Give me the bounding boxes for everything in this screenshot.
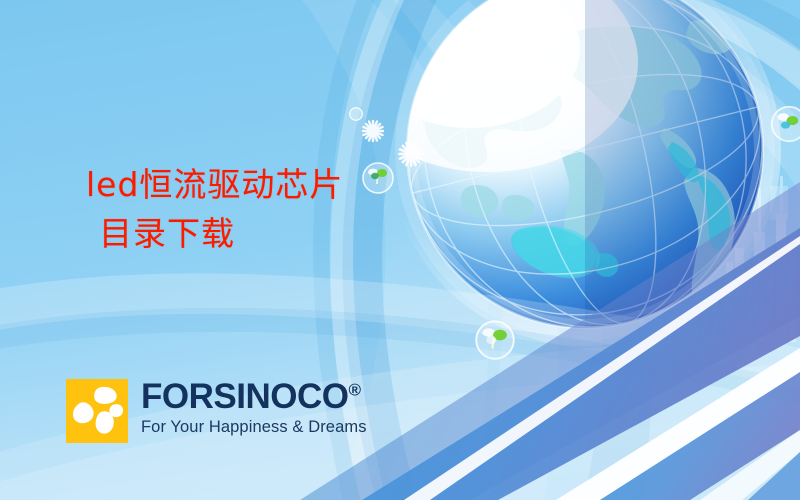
promo-headline: led恒流驱动芯片 目录下载	[86, 164, 343, 256]
four-petal-pinwheel-icon	[66, 379, 128, 443]
logo-text-block: FORSINOCO® For Your Happiness & Dreams	[141, 379, 367, 437]
logo-wordmark: FORSINOCO®	[141, 380, 367, 414]
company-logo[interactable]: FORSINOCO® For Your Happiness & Dreams	[66, 379, 367, 443]
banner-canvas: led恒流驱动芯片 目录下载 FORSINOCO® For Your Happi…	[0, 0, 800, 500]
headline-line-1: led恒流驱动芯片	[86, 164, 343, 207]
wordmark-text: FORSINOCO	[141, 377, 348, 416]
headline-line-2: 目录下载	[86, 213, 343, 256]
logo-mark-tile	[66, 379, 128, 443]
registered-mark-icon: ®	[348, 380, 361, 399]
logo-tagline: For Your Happiness & Dreams	[141, 418, 367, 437]
